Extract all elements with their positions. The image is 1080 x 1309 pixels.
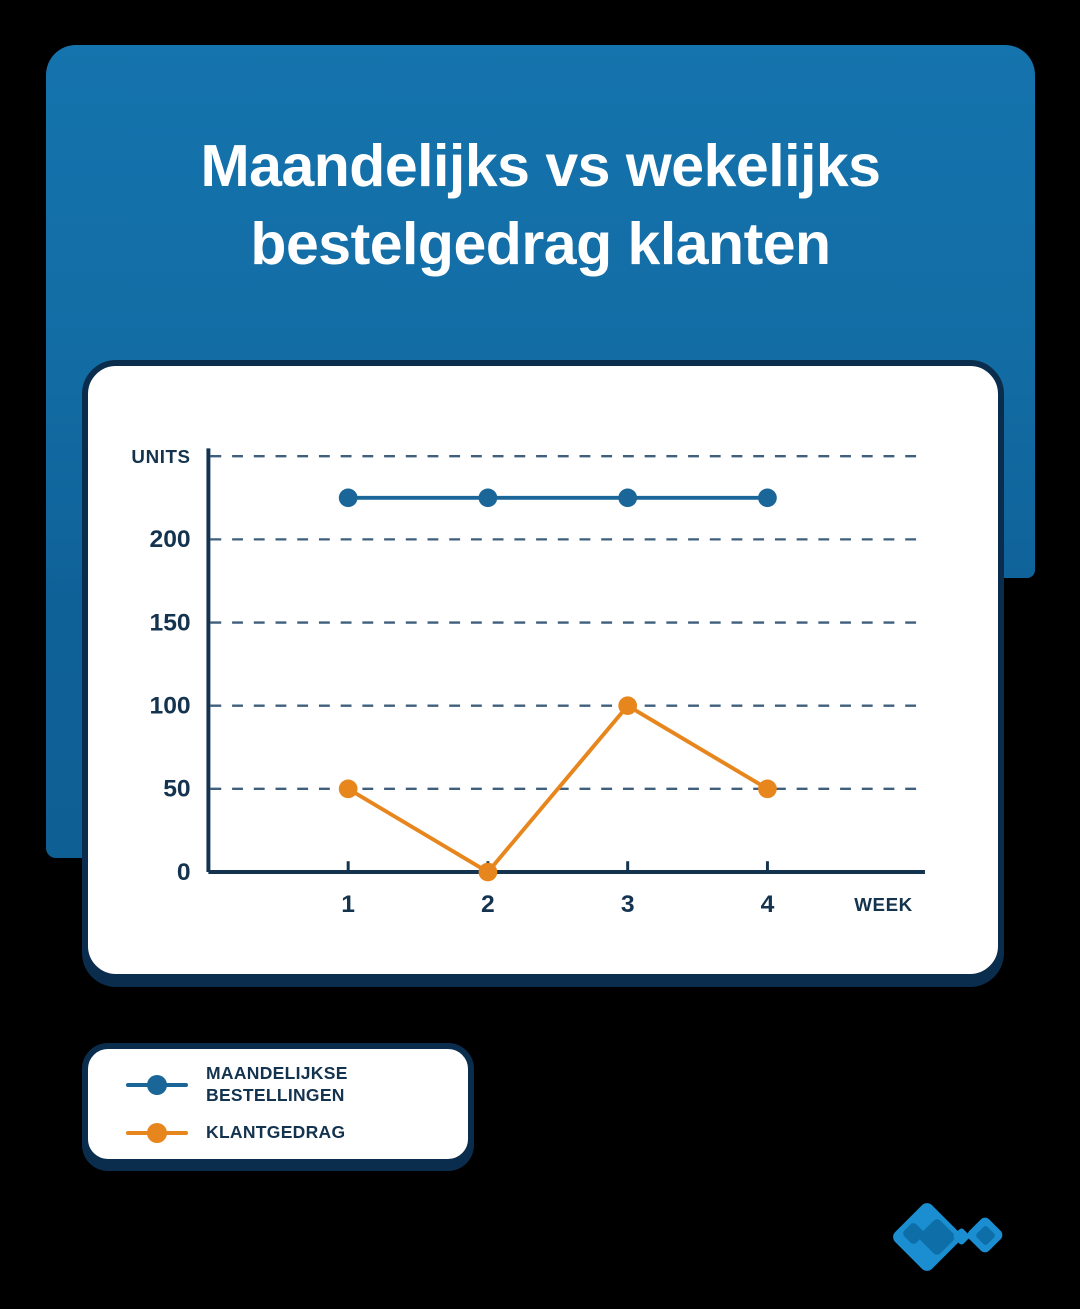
x-tick-label: 2 (481, 891, 495, 918)
series-data-point[interactable] (758, 488, 777, 507)
line-chart-svg: 050100150200 1234 UNITS WEEK (88, 366, 998, 974)
chart-card: 050100150200 1234 UNITS WEEK (82, 360, 1004, 980)
diamond-cluster-logo (893, 1197, 1005, 1275)
y-tick-label: 50 (163, 776, 190, 803)
x-axis-label: WEEK (854, 894, 913, 915)
poster-root: Maandelijks vs wekelijks bestelgedrag kl… (0, 0, 1080, 1309)
legend-label-customer-behaviour: KLANTGEDRAG (206, 1122, 345, 1144)
y-axis-label: UNITS (131, 446, 190, 467)
x-tick-labels-group: 1234 (341, 891, 774, 918)
series-data-point[interactable] (758, 780, 777, 799)
axis-lines-group (208, 448, 925, 872)
series-data-point[interactable] (339, 488, 358, 507)
y-tick-labels-group: 050100150200 (149, 526, 190, 886)
y-tick-label: 100 (149, 693, 190, 720)
legend-item-customer-behaviour[interactable]: KLANTGEDRAG (126, 1121, 468, 1145)
legend-item-monthly-orders[interactable]: MAANDELIJKSE BESTELLINGEN (126, 1063, 468, 1107)
series-data-point[interactable] (618, 488, 637, 507)
page-title: Maandelijks vs wekelijks bestelgedrag kl… (46, 128, 1035, 284)
y-tick-label: 200 (149, 526, 190, 553)
series-data-point[interactable] (618, 696, 637, 715)
series-group (339, 488, 777, 881)
chart-legend: MAANDELIJKSE BESTELLINGEN KLANTGEDRAG (82, 1043, 474, 1165)
legend-label-monthly-orders: MAANDELIJKSE BESTELLINGEN (206, 1063, 348, 1107)
x-tick-label: 1 (341, 891, 355, 918)
y-tick-label: 0 (177, 859, 191, 886)
series-data-point[interactable] (339, 780, 358, 799)
legend-marker-orange-icon (126, 1121, 188, 1145)
legend-marker-blue-icon (126, 1073, 188, 1097)
x-tick-label: 4 (761, 891, 775, 918)
chart-plot-area: 050100150200 1234 UNITS WEEK (88, 366, 998, 974)
series-data-point[interactable] (479, 488, 498, 507)
gridlines-group (210, 456, 925, 789)
y-tick-label: 150 (149, 609, 190, 636)
x-tick-label: 3 (621, 891, 635, 918)
series-data-point[interactable] (479, 863, 498, 882)
